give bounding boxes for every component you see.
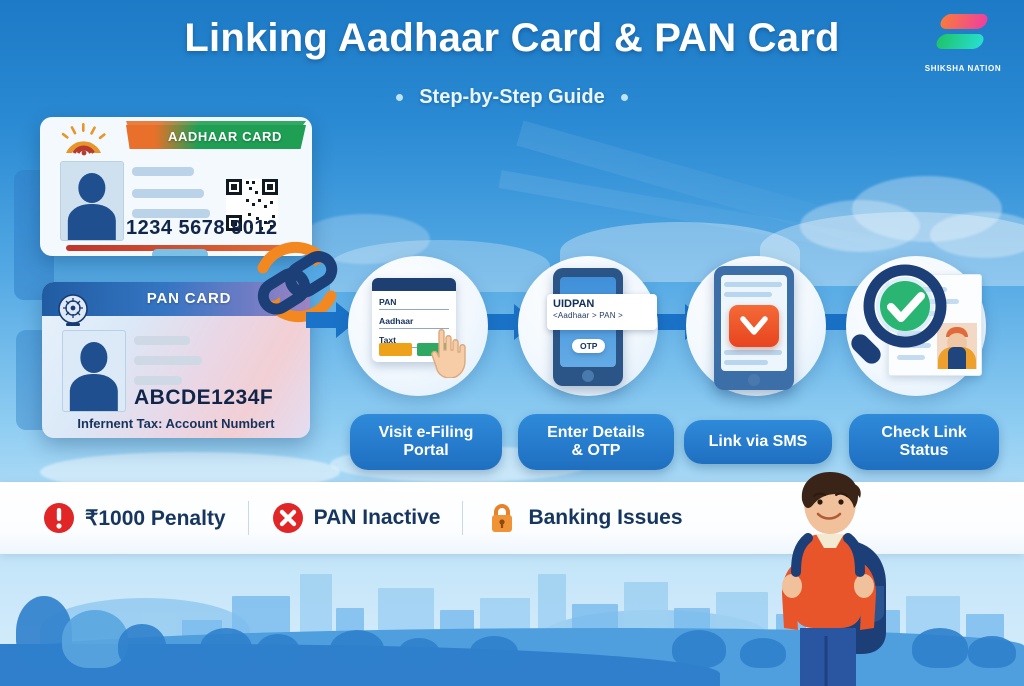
- step-4-label-line1: Check Link: [881, 424, 966, 441]
- step-1-label-line2: Portal: [403, 442, 448, 459]
- warning-item-pan-inactive[interactable]: PAN Inactive: [271, 501, 441, 535]
- sms-body: <Aadhaar > PAN >: [547, 310, 657, 324]
- logo-mark-icon: [937, 10, 989, 60]
- page-subtitle-wrap: Step-by-Step Guide: [0, 86, 1024, 109]
- bullet-dot-right: [621, 94, 628, 101]
- sms-text-line: [724, 350, 782, 355]
- pan-caption: Infernent Tax: Account Numbert: [42, 416, 310, 431]
- page-title: Linking Aadhaar Card & PAN Card: [0, 16, 1024, 61]
- step-4-label-line2: Status: [900, 442, 949, 459]
- warning-label-pan-inactive: PAN Inactive: [314, 506, 441, 530]
- step-2-label-line2: & OTP: [572, 442, 621, 459]
- aadhaar-banner: AADHAAR CARD: [126, 125, 306, 149]
- pan-detail-line: [134, 336, 190, 345]
- sms-text-line: [724, 282, 782, 287]
- aadhaar-detail-line: [132, 167, 194, 176]
- sms-text-line: [724, 360, 768, 365]
- sms-message-box: UIDPAN <Aadhaar > PAN >: [547, 294, 657, 330]
- sms-phone-home-button: [748, 374, 760, 386]
- student-with-backpack: [742, 468, 918, 686]
- india-emblem-icon: [56, 292, 90, 328]
- aadhaar-photo: [60, 161, 124, 241]
- step-1-label[interactable]: Visit e-Filing Portal: [350, 414, 502, 470]
- step-2-label[interactable]: Enter Details & OTP: [518, 414, 674, 470]
- step-3-label-line1: Link via SMS: [709, 433, 808, 451]
- form-button-orange[interactable]: [379, 343, 412, 356]
- form-field-pan: PAN: [379, 297, 449, 310]
- page-subtitle: Step-by-Step Guide: [419, 86, 605, 109]
- aadhaar-bottom-pill: [152, 249, 208, 256]
- cross-circle-icon: [271, 501, 305, 535]
- step-2-label-line1: Enter Details: [547, 424, 645, 441]
- otp-chip: OTP: [572, 339, 605, 353]
- pan-photo: [62, 330, 126, 412]
- sms-title: UIDPAN: [547, 294, 657, 310]
- exclamation-circle-icon: [42, 501, 76, 535]
- brand-logo[interactable]: SHIKSHA NATION: [918, 10, 1008, 73]
- padlock-icon: [485, 501, 519, 535]
- aadhaar-logo-icon: [58, 123, 112, 159]
- aadhaar-detail-line: [132, 189, 204, 198]
- pointing-hand-icon: [424, 326, 470, 378]
- step-4-label[interactable]: Check Link Status: [849, 414, 999, 470]
- warning-divider: [462, 501, 463, 535]
- warning-label-banking: Banking Issues: [528, 506, 682, 530]
- logo-text: SHIKSHA NATION: [918, 64, 1008, 73]
- step-3-label[interactable]: Link via SMS: [684, 420, 832, 464]
- bullet-dot-left: [396, 94, 403, 101]
- sms-app-icon: [729, 305, 779, 347]
- aadhaar-banner-label: AADHAAR CARD: [126, 125, 306, 149]
- sms-text-line: [724, 292, 772, 297]
- pan-detail-line: [134, 356, 202, 365]
- magnifier-check-icon: [843, 262, 961, 380]
- browser-titlebar: [372, 278, 456, 291]
- pan-number: ABCDE1234F: [134, 386, 273, 410]
- warning-divider: [248, 501, 249, 535]
- step-1-label-line1: Visit e-Filing: [379, 424, 474, 441]
- warning-item-penalty[interactable]: ₹1000 Penalty: [42, 501, 226, 535]
- warning-item-banking[interactable]: Banking Issues: [485, 501, 682, 535]
- pan-detail-line: [134, 376, 182, 385]
- warnings-list: ₹1000 Penalty PAN Inactive: [42, 482, 683, 554]
- phone-home-button: [582, 370, 594, 382]
- infographic-canvas: Linking Aadhaar Card & PAN Card Step-by-…: [0, 0, 1024, 686]
- warning-label-penalty: ₹1000 Penalty: [85, 506, 226, 531]
